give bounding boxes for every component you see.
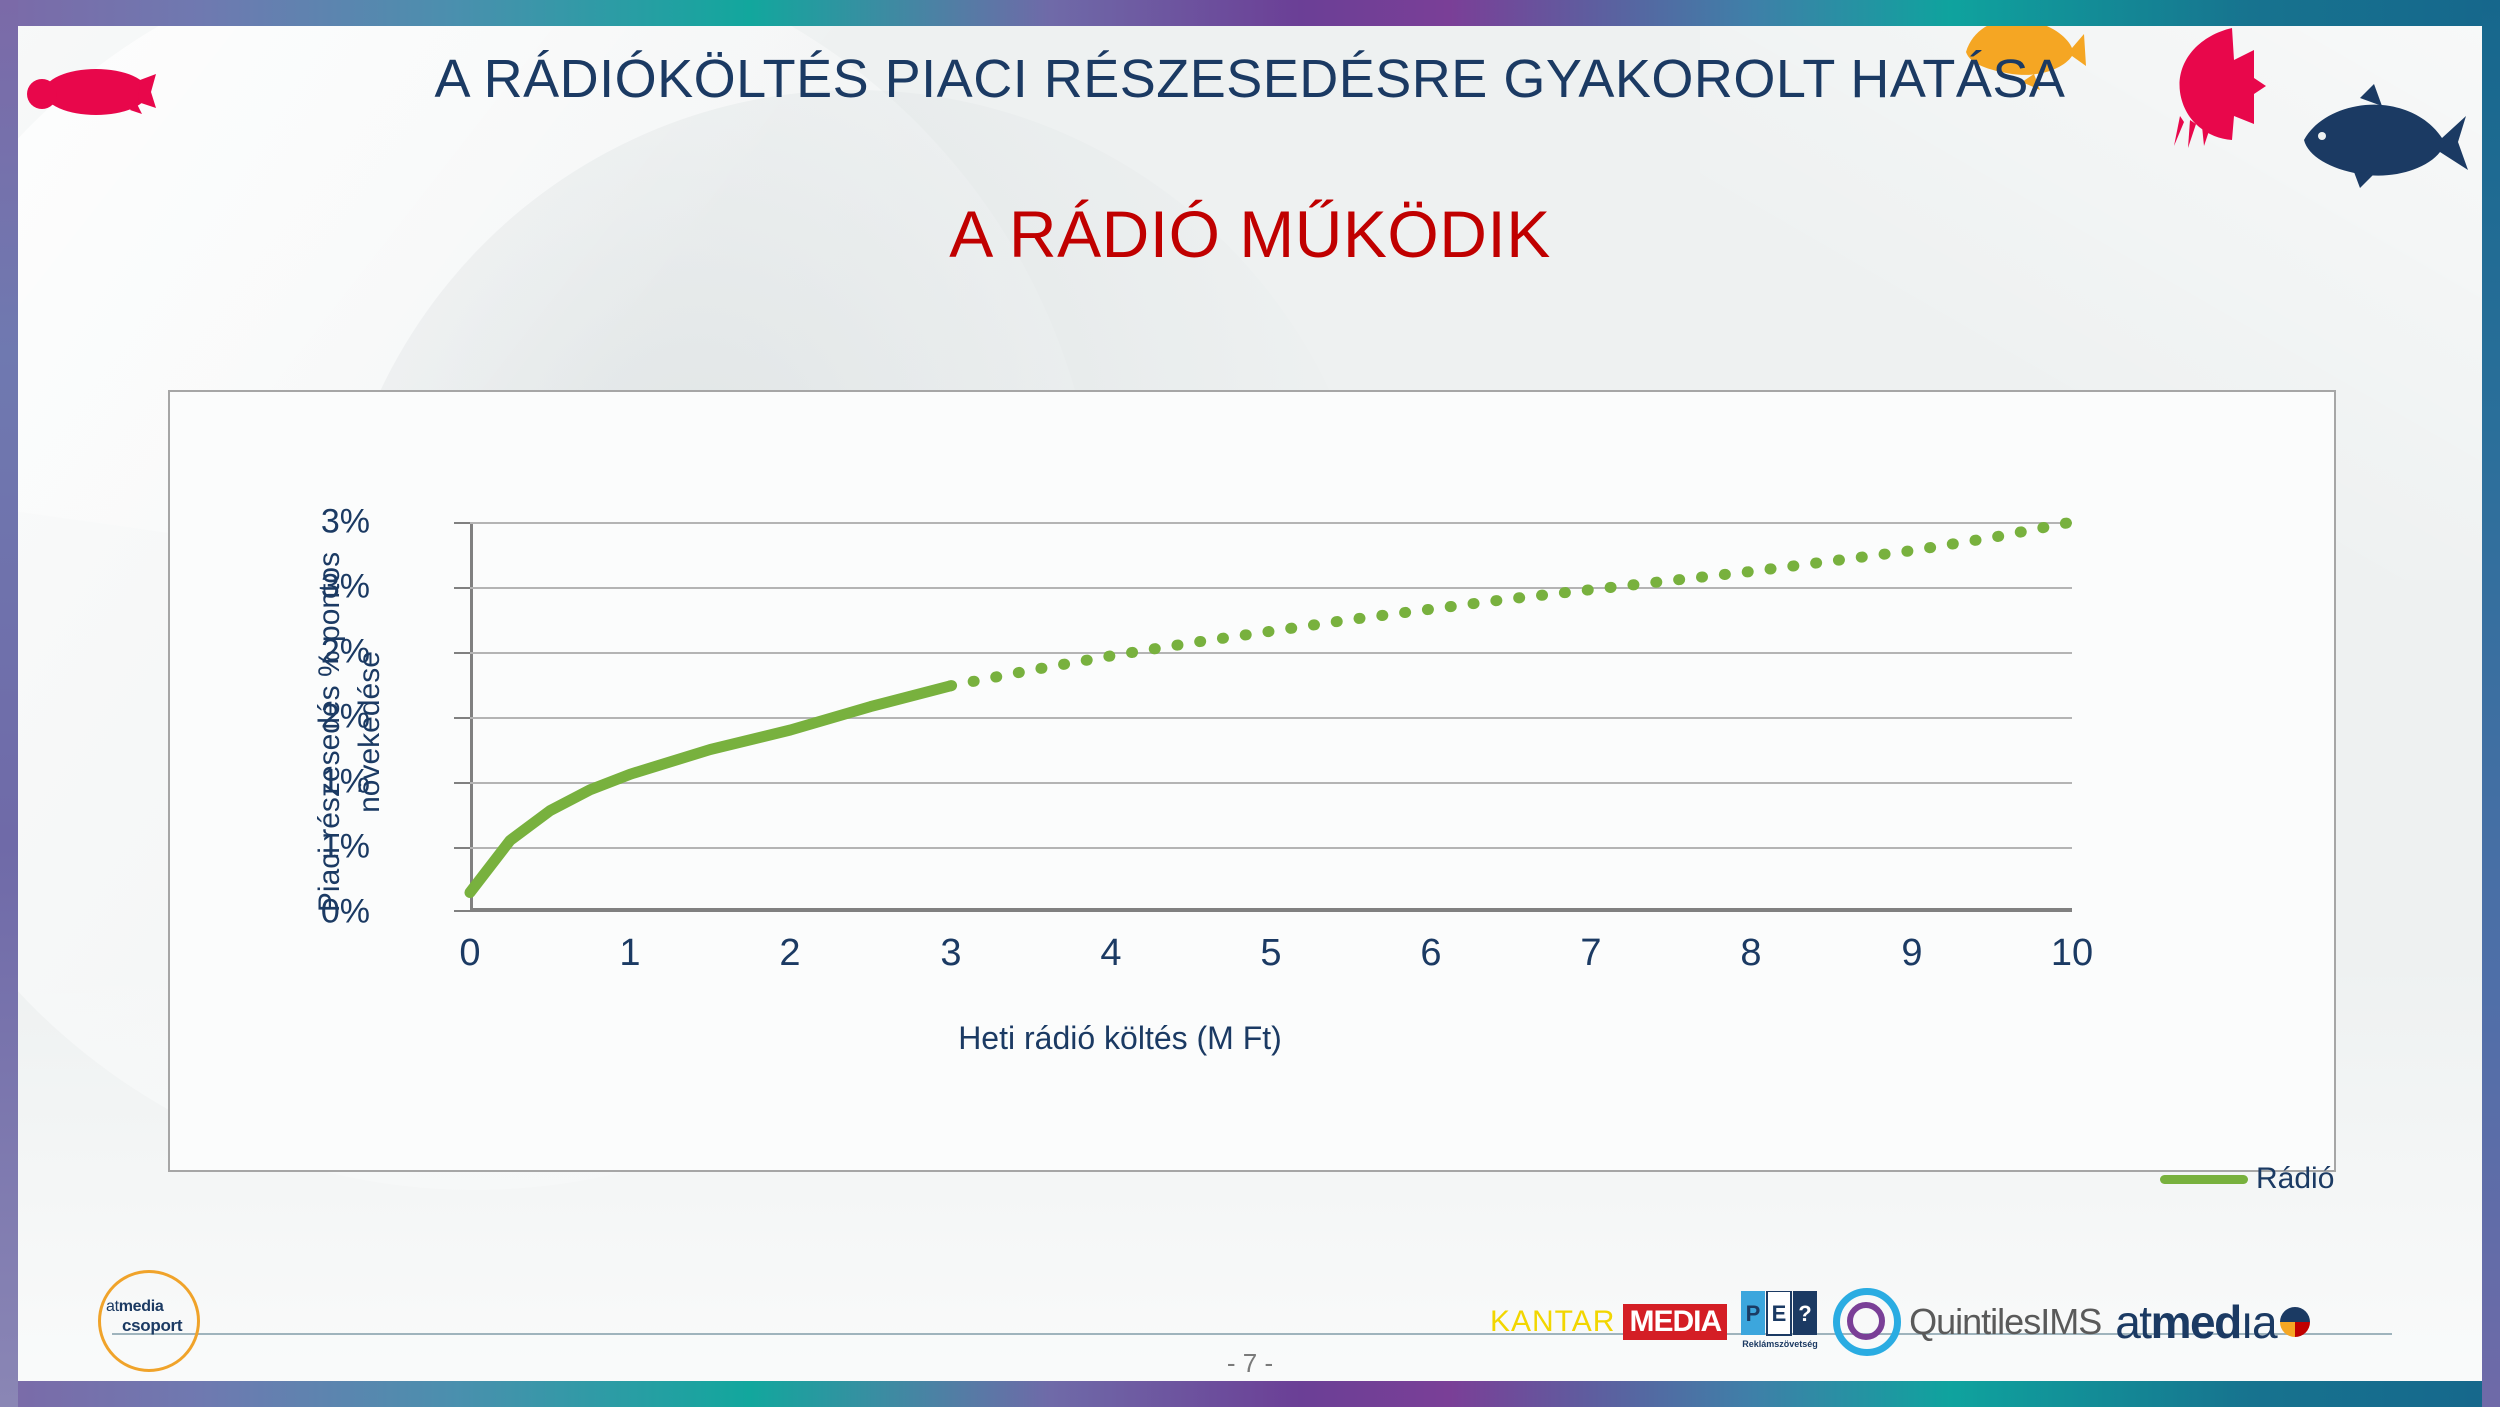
y-tick-label: 3%: [250, 568, 370, 607]
svg-text:?: ?: [1798, 1301, 1811, 1326]
quintilesims-logo: QuintilesIMS: [1833, 1288, 2101, 1356]
x-tick-label: 9: [1901, 932, 1922, 975]
y-tickmark: [454, 847, 470, 849]
partner-logos: KANTAR MEDIA P E ? Reklámszövetség Quint…: [1490, 1288, 2312, 1356]
border-bottom: [0, 1381, 2500, 1407]
legend-label-radio: Rádió: [2256, 1162, 2334, 1196]
kantar-media-logo: KANTAR MEDIA: [1490, 1304, 1727, 1340]
legend-swatch-radio: [2160, 1175, 2248, 1184]
y-tickmark: [454, 522, 470, 524]
plot-area: [470, 522, 2072, 912]
atmedia-csoport-logo: atmedia csoport: [98, 1284, 204, 1352]
y-tick-label: 0%: [250, 893, 370, 932]
atmedia-dot-icon: [2278, 1305, 2312, 1339]
border-top: [0, 0, 2500, 26]
x-tick-label: 7: [1580, 932, 1601, 975]
y-tickmark: [454, 587, 470, 589]
logo-line2: csoport: [122, 1316, 182, 1336]
x-tick-label: 1: [619, 932, 640, 975]
page-title: A RÁDIÓKÖLTÉS PIACI RÉSZESEDÉSRE GYAKORO…: [0, 48, 2500, 110]
mrsz-mark-icon: P E ? Reklámszövetség: [1741, 1291, 1819, 1353]
y-tickmark: [454, 782, 470, 784]
y-tick-label: 2%: [250, 633, 370, 672]
page-subtitle: A RÁDIÓ MŰKÖDIK: [0, 196, 2500, 272]
atmedia-logo: atmedıa: [2115, 1295, 2312, 1349]
x-tick-label: 2: [779, 932, 800, 975]
kantar-media-text: MEDIA: [1623, 1304, 1727, 1340]
kantar-text: KANTAR: [1490, 1305, 1615, 1339]
logo-line1: atmedia: [106, 1298, 164, 1316]
chart-legend: Rádió: [2160, 1162, 2334, 1196]
series-radio-curve: [470, 522, 2072, 912]
x-tick-label: 5: [1260, 932, 1281, 975]
y-tick-label: 1%: [250, 828, 370, 867]
x-tick-label: 3: [940, 932, 961, 975]
border-right: [2482, 0, 2500, 1407]
x-axis-ticks: 0 1 2 3 4 5 6 7 8 9 10: [470, 932, 2072, 982]
x-tick-label: 8: [1740, 932, 1761, 975]
slide-root: A RÁDIÓKÖLTÉS PIACI RÉSZESEDÉSRE GYAKORO…: [0, 0, 2500, 1407]
svg-text:P: P: [1746, 1301, 1761, 1326]
border-left: [0, 0, 18, 1407]
x-tick-label: 10: [2051, 932, 2093, 975]
quintiles-ring-icon: [1833, 1288, 1901, 1356]
page-number: - 7 -: [0, 1348, 2500, 1379]
y-tick-label: 1%: [250, 763, 370, 802]
mrsz-logo: P E ? Reklámszövetség: [1741, 1291, 1819, 1353]
y-tickmark: [454, 652, 470, 654]
x-axis-label: Heti rádió költés (M Ft): [170, 1020, 2070, 1057]
chart-container: Piaci részesedés % pontos növekedése 3% …: [168, 390, 2336, 1172]
logo-at: at: [106, 1298, 119, 1315]
atmedia-tail: ıa: [2241, 1296, 2276, 1348]
y-tickmark: [454, 717, 470, 719]
svg-text:E: E: [1772, 1301, 1787, 1326]
x-tick-label: 0: [459, 932, 480, 975]
logo-media: media: [119, 1298, 164, 1315]
atmedia-at: at: [2115, 1296, 2150, 1348]
x-tick-label: 6: [1420, 932, 1441, 975]
y-tickmark: [454, 910, 470, 912]
x-tick-label: 4: [1100, 932, 1121, 975]
quintiles-text: QuintilesIMS: [1909, 1301, 2101, 1343]
y-tick-label: 2%: [250, 698, 370, 737]
atmedia-med: med: [2151, 1296, 2241, 1348]
y-tick-label: 3%: [250, 503, 370, 542]
